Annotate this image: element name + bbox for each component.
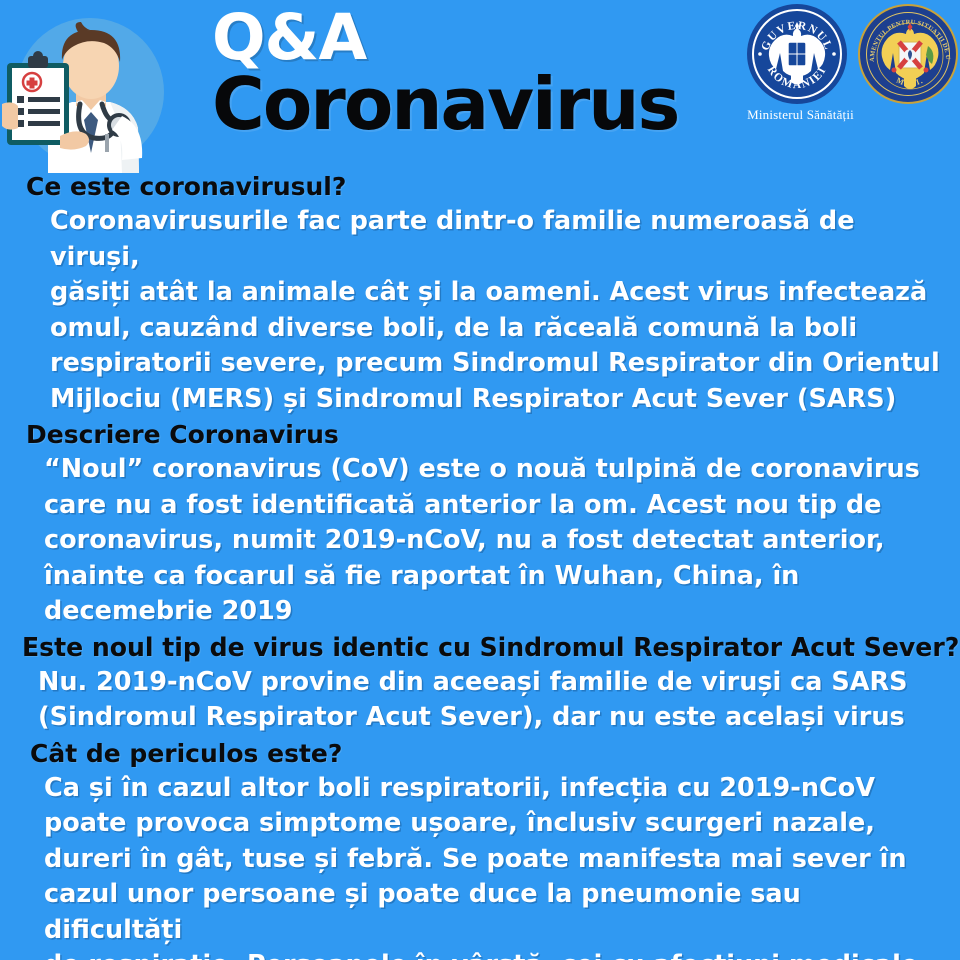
qa-item: Este noul tip de virus identic cu Sindro… bbox=[0, 631, 960, 736]
ministerul-sanatatii-caption: Ministerul Sănătății bbox=[747, 107, 854, 123]
qa-question: Ce este coronavirusul? bbox=[26, 170, 960, 204]
qa-item: Cât de periculos este? Ca și în cazul al… bbox=[0, 737, 960, 960]
title-qa: Q&A bbox=[212, 6, 732, 70]
qa-answer: “Noul” coronavirus (CoV) este o nouă tul… bbox=[44, 452, 942, 630]
title-coronavirus: Coronavirus bbox=[212, 66, 732, 142]
dsu-block: DEPARTAMENTUL PENTRU SITUAȚII DE URGENȚĂ… bbox=[858, 4, 958, 104]
doctor-with-clipboard-illustration bbox=[2, 8, 177, 173]
qa-answer: Nu. 2019-nCoV provine din aceeași famili… bbox=[38, 665, 942, 736]
guvernul-romaniei-emblem-svg: GUVERNUL ROMANIEI bbox=[747, 4, 847, 104]
qa-item: Ce este coronavirusul? Coronavirusurile … bbox=[0, 170, 960, 417]
poster-header: Q&A Coronavirus GUVERNUL bbox=[0, 0, 960, 172]
doctor-illustration-svg bbox=[2, 8, 177, 173]
departamentul-pentru-situatii-de-urgenta-emblem: DEPARTAMENTUL PENTRU SITUAȚII DE URGENȚĂ… bbox=[858, 4, 958, 104]
qa-answer: Coronavirusurile fac parte dintr-o famil… bbox=[50, 204, 942, 417]
emblem-group: GUVERNUL ROMANIEI bbox=[747, 4, 958, 123]
qa-item: Descriere Coronavirus “Noul” coronavirus… bbox=[0, 418, 960, 630]
poster-title: Q&A Coronavirus bbox=[212, 6, 732, 142]
qa-answer: Ca și în cazul altor boli respiratorii, … bbox=[44, 771, 942, 960]
qa-question: Cât de periculos este? bbox=[30, 737, 960, 771]
dsu-emblem-svg: DEPARTAMENTUL PENTRU SITUAȚII DE URGENȚĂ… bbox=[860, 6, 960, 106]
guvernul-romaniei-block: GUVERNUL ROMANIEI bbox=[747, 4, 854, 123]
guvernul-romaniei-emblem: GUVERNUL ROMANIEI bbox=[747, 4, 847, 104]
qa-list: Ce este coronavirusul? Coronavirusurile … bbox=[0, 170, 960, 960]
qa-question: Descriere Coronavirus bbox=[26, 418, 960, 452]
coronavirus-qa-poster: Q&A Coronavirus GUVERNUL bbox=[0, 0, 960, 960]
qa-question: Este noul tip de virus identic cu Sindro… bbox=[22, 631, 946, 665]
